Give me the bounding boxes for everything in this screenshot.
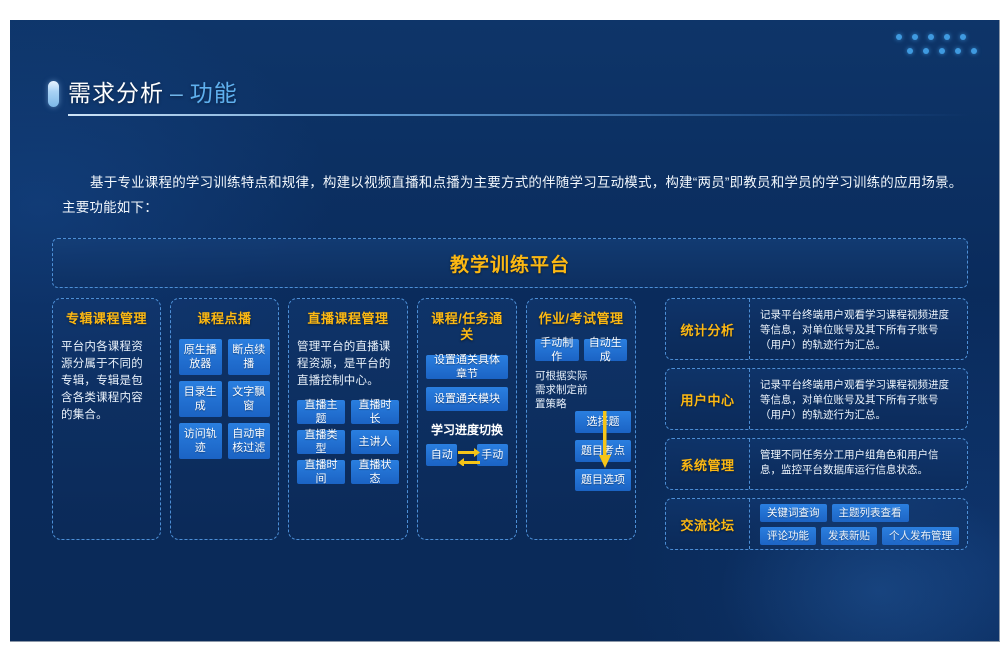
column-button-grid: 直播主题 直播时长 直播类型 主讲人 直播时间 直播状态 [297,400,399,484]
page-title: 需求分析–功能 [68,74,238,108]
strategy-note: 可根据实际需求制定前置策略 [535,369,597,411]
right-panel: 统计分析 记录平台终端用户观看学习课程视频进度等信息，对单位账号及其下所有子账号… [665,298,968,558]
panel-row-label: 系统管理 [666,439,750,489]
feature-button[interactable]: 直播时间 [297,460,345,484]
panel-row-description: 管理不同任务分工用户组角色和用户信息，监控平台数据库运行信息状态。 [750,439,967,489]
page-title-main: 需求分析 [68,80,164,106]
column-title: 作业/考试管理 [535,311,627,327]
feature-column-live-course: 直播课程管理 管理平台的直播课程资源，是平台的直播控制中心。 直播主题 直播时长… [288,298,408,540]
panel-row-statistics: 统计分析 记录平台终端用户观看学习课程视频进度等信息，对单位账号及其下所有子账号… [665,298,968,360]
panel-row-system-management: 系统管理 管理不同任务分工用户组角色和用户信息，监控平台数据库运行信息状态。 [665,438,968,490]
forum-button[interactable]: 个人发布管理 [882,527,959,545]
column-title: 课程/任务通关 [426,311,508,343]
feature-column-album-course: 专辑课程管理 平台内各课程资源分属于不同的专辑，专辑是包含各类课程内容的集合。 [52,298,161,540]
intro-paragraph: 基于专业课程的学习训练特点和规律，构建以视频直播和点播为主要方式的伴随学习互动模… [62,170,968,220]
slide-canvas: 需求分析–功能 基于专业课程的学习训练特点和规律，构建以视频直播和点播为主要方式… [10,20,1000,642]
dot-grid-decoration-icon [896,34,977,110]
feature-button[interactable]: 原生播放器 [179,339,222,375]
progress-mode-toggle[interactable]: 自动 手动 [426,444,508,466]
exam-flow: 选择题 题目考点 题目选项 [535,411,627,491]
feature-columns: 专辑课程管理 平台内各课程资源分属于不同的专辑，专辑是包含各类课程内容的集合。 … [52,298,636,540]
feature-button[interactable]: 手动制作 [535,339,579,361]
column-button-stack: 设置通关具体章节 设置通关模块 [426,355,508,411]
column-top-buttons: 手动制作 自动生成 [535,339,627,361]
panel-row-label: 统计分析 [666,299,750,359]
feature-button[interactable]: 直播主题 [297,400,345,424]
feature-button[interactable]: 设置通关模块 [426,387,508,411]
feature-button[interactable]: 自动审核过滤 [228,423,271,459]
feature-button[interactable]: 访问轨迹 [179,423,222,459]
forum-button-group: 关键词查询 主题列表查看 评论功能 发表新贴 个人发布管理 [750,499,967,549]
panel-row-forum: 交流论坛 关键词查询 主题列表查看 评论功能 发表新贴 个人发布管理 [665,498,968,550]
feature-button[interactable]: 直播状态 [351,460,399,484]
pill-bullet-icon [48,81,59,107]
page-title-sub: 功能 [190,80,238,106]
panel-row-label: 交流论坛 [666,499,750,549]
feature-column-on-demand: 课程点播 原生播放器 断点续播 目录生成 文字飘窗 访问轨迹 自动审核过滤 [170,298,279,540]
forum-button[interactable]: 评论功能 [760,527,816,545]
feature-column-task-clearance: 课程/任务通关 设置通关具体章节 设置通关模块 学习进度切换 自动 手动 [417,298,517,540]
feature-button[interactable]: 设置通关具体章节 [426,355,508,379]
column-title: 专辑课程管理 [61,311,152,327]
feature-button[interactable]: 目录生成 [179,381,222,417]
column-title: 课程点播 [179,311,270,327]
platform-banner-title: 教学训练平台 [450,250,570,277]
feature-button[interactable]: 断点续播 [228,339,271,375]
feature-button[interactable]: 主讲人 [351,430,399,454]
forum-button[interactable]: 发表新贴 [821,527,877,545]
feature-button[interactable]: 直播类型 [297,430,345,454]
down-arrow-icon [597,411,613,474]
swap-arrows-icon [457,444,476,466]
toggle-option-auto[interactable]: 自动 [426,444,457,466]
feature-button[interactable]: 直播时长 [351,400,399,424]
page-title-separator: – [170,80,184,106]
slide-header: 需求分析–功能 [40,70,970,128]
forum-button[interactable]: 关键词查询 [760,504,827,522]
toggle-title: 学习进度切换 [426,421,508,438]
column-button-grid: 原生播放器 断点续播 目录生成 文字飘窗 访问轨迹 自动审核过滤 [179,339,270,459]
forum-button[interactable]: 主题列表查看 [832,504,909,522]
feature-button[interactable]: 文字飘窗 [228,381,271,417]
panel-row-description: 记录平台终端用户观看学习课程视频进度等信息，对单位账号及其下所有子账号（用户）的… [750,369,967,429]
header-underline [68,114,970,116]
panel-row-label: 用户中心 [666,369,750,429]
column-description: 平台内各课程资源分属于不同的专辑，专辑是包含各类课程内容的集合。 [61,339,152,424]
platform-banner: 教学训练平台 [52,238,968,288]
panel-row-user-center: 用户中心 记录平台终端用户观看学习课程视频进度等信息，对单位账号及其下所有子账号… [665,368,968,430]
column-description: 管理平台的直播课程资源，是平台的直播控制中心。 [297,339,399,390]
column-title: 直播课程管理 [297,311,399,327]
feature-button[interactable]: 自动生成 [584,339,628,361]
panel-row-description: 记录平台终端用户观看学习课程视频进度等信息，对单位账号及其下所有子账号（用户）的… [750,299,967,359]
feature-column-exam-management: 作业/考试管理 手动制作 自动生成 可根据实际需求制定前置策略 选择题 题目考点… [526,298,636,540]
